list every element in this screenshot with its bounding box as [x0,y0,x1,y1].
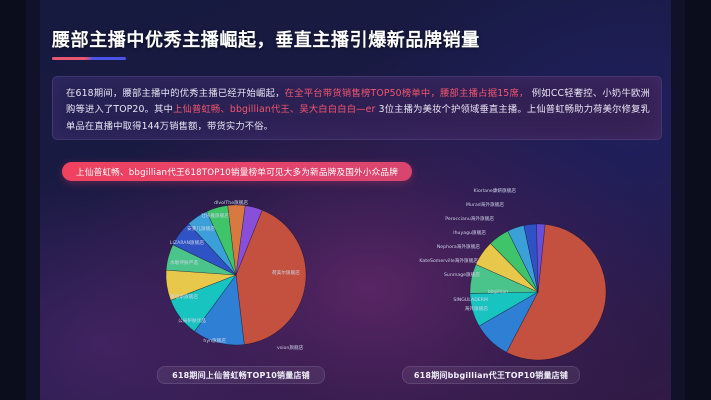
summary-paragraph: 在618期间，腰部主播中的优秀主播已经开始崛起，在全平台带货销售榜TOP50榜单… [66,86,650,135]
right-pie-chart: Kiorlane康妍旗舰店Murad海外旗舰店Peroccianu海外旗舰店lh… [360,172,680,372]
pie-slice-label: lhuyagu旗舰店 [453,230,486,236]
pie-slice-label: 荷美尔旗舰店 [272,270,300,276]
paragraph-segment-1: 在618期间，腰部主播中的优秀主播已经开始崛起， [66,88,285,99]
left-edge-band-inner [26,0,40,400]
pie-slice-label: Sunmage旗舰店 [444,272,480,278]
pie-slice-label: KateSomerville海外旗舰店 [419,258,478,264]
pie-slice-label: Nephora海外旗舰店 [437,244,480,250]
left-pie-svg [40,182,360,372]
pie-slice-label: Peroccianu海外旗舰店 [445,216,494,222]
left-pie-chart: dlvolThe旗舰店壮乐雅旗舰店安莱儿旗舰店LIZARAN旗舰店水敏坪肤严选番… [40,182,360,372]
title-underline-rule [52,57,126,60]
pie-slice-label: 壮乐雅旗舰店 [201,213,229,219]
pie-slice-label: dlvolThe旗舰店 [214,200,248,206]
page-title: 腰部主播中优秀主播崛起，垂直主播引爆新品牌销量 [52,26,480,52]
pie-slice-label: 安莱儿旗舰店 [187,226,215,232]
pie-slice-label: Kiorlane康妍旗舰店 [474,188,516,194]
pie-slice-label: 海外旗舰店 [465,306,488,312]
right-edge-band [685,0,711,400]
pie-slice-label: Murad海外旗舰店 [466,202,504,208]
insight-badge-label: 上仙普虹畅、bbgillian代王618TOP10销量榜单可见大多为新品牌及国外… [76,166,398,178]
pie-slice-label: LIZARAN旗舰店 [170,240,204,246]
right-pie-svg [360,172,680,372]
pie-slice-label: 番恩斯旗舰店 [170,294,198,300]
left-chart-caption-label: 618期间上仙普虹畅TOP10销量店铺 [172,370,310,381]
pie-slice-label: SINGULADERM [453,298,488,303]
pie-slice-label: 公局护肤优品 [178,318,206,324]
paragraph-highlight-2: 上仙普虹畅、bbgillian代王、吴大白白白白—er [173,104,375,115]
pie-slice-label: hyn旗舰店 [203,338,226,344]
left-edge-band [0,0,26,400]
right-chart-caption-label: 618期间bbgillian代王TOP10销量店铺 [414,370,568,381]
right-chart-caption: 618期间bbgillian代王TOP10销量店铺 [402,366,580,384]
left-chart-caption: 618期间上仙普虹畅TOP10销量店铺 [157,366,325,384]
pie-slice-label: bbgillian [488,290,508,295]
pie-slice-label: vsion旗舰店 [277,345,303,351]
paragraph-highlight-1: 在全平台带货销售榜TOP50榜单中，腰部主播占据15席， [285,88,529,99]
slide-root: 腰部主播中优秀主播崛起，垂直主播引爆新品牌销量 在618期间，腰部主播中的优秀主… [0,0,711,400]
pie-slice-label: 水敏坪肤严选 [170,260,198,266]
